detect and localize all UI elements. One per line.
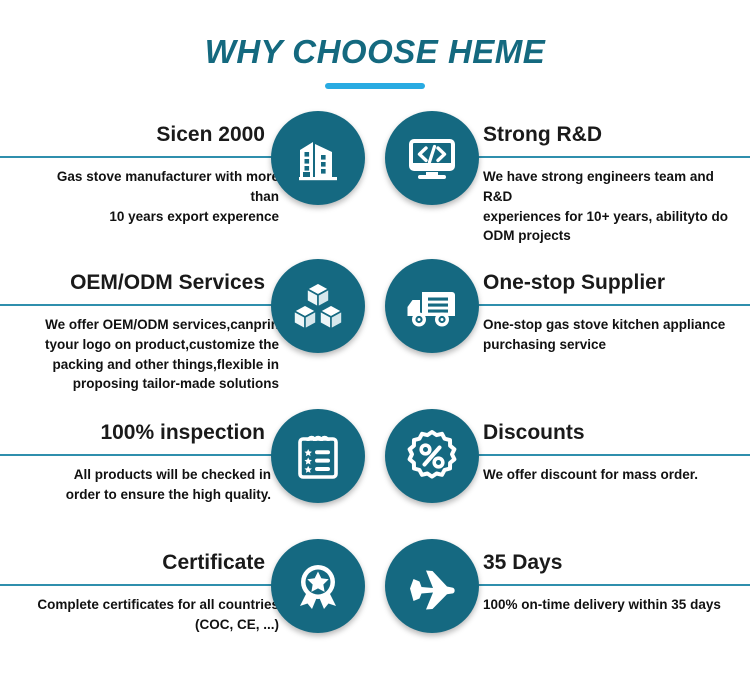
feature-icon-wrap (385, 259, 479, 353)
feature-title: One-stop Supplier (473, 271, 665, 295)
airplane-icon (385, 539, 479, 633)
feature-divider (473, 454, 750, 456)
feature-card-sicen-2000: Sicen 2000 Gas stove manufacturer with m… (0, 111, 375, 259)
discount-badge-icon (385, 409, 479, 503)
feature-icon-wrap (271, 539, 365, 633)
features-grid: Sicen 2000 Gas stove manufacturer with m… (0, 111, 750, 667)
feature-icon-wrap (385, 409, 479, 503)
feature-body: One-stop gas stove kitchen appliance pur… (473, 315, 725, 354)
feature-icon-wrap (271, 259, 365, 353)
title-underline-bar (325, 83, 425, 89)
page-title: WHY CHOOSE HEME (0, 34, 750, 70)
feature-divider (0, 304, 279, 306)
feature-body: All products will be checked in order to… (66, 465, 279, 504)
feature-divider (473, 304, 750, 306)
feature-text-column: Strong R&D We have strong engineers team… (473, 111, 750, 259)
feature-divider (473, 584, 750, 586)
feature-card-strong-rd: Strong R&D We have strong engineers team… (375, 111, 750, 259)
feature-icon-wrap (385, 539, 479, 633)
feature-divider (0, 454, 279, 456)
feature-text-column: 100% inspection All products will be che… (0, 409, 279, 539)
feature-divider (473, 156, 750, 158)
feature-text-column: Discounts We offer discount for mass ord… (473, 409, 750, 539)
award-medal-icon (271, 539, 365, 633)
feature-title: OEM/ODM Services (70, 271, 279, 295)
feature-card-discounts: Discounts We offer discount for mass ord… (375, 409, 750, 539)
feature-body: We offer OEM/ODM services,canprin tyour … (45, 315, 279, 393)
monitor-code-icon (385, 111, 479, 205)
feature-row: OEM/ODM Services We offer OEM/ODM servic… (0, 259, 750, 409)
feature-title: 100% inspection (100, 421, 279, 445)
feature-card-oem-odm-services: OEM/ODM Services We offer OEM/ODM servic… (0, 259, 375, 409)
feature-text-column: One-stop Supplier One-stop gas stove kit… (473, 259, 750, 409)
feature-text-column: 35 Days 100% on-time delivery within 35 … (473, 539, 750, 667)
truck-icon (385, 259, 479, 353)
cubes-icon (271, 259, 365, 353)
feature-body: 100% on-time delivery within 35 days (473, 595, 721, 615)
feature-title: Discounts (473, 421, 585, 445)
feature-text-column: Sicen 2000 Gas stove manufacturer with m… (0, 111, 279, 259)
feature-row: Sicen 2000 Gas stove manufacturer with m… (0, 111, 750, 259)
building-icon (271, 111, 365, 205)
header: WHY CHOOSE HEME (0, 0, 750, 89)
feature-body: We have strong engineers team and R&D ex… (473, 167, 740, 245)
feature-title: Certificate (162, 551, 279, 575)
feature-icon-wrap (271, 111, 365, 205)
feature-row: Certificate Complete certificates for al… (0, 539, 750, 667)
feature-icon-wrap (385, 111, 479, 205)
feature-icon-wrap (271, 409, 365, 503)
feature-divider (0, 156, 279, 158)
feature-body: Complete certificates for all countries … (37, 595, 279, 634)
feature-text-column: Certificate Complete certificates for al… (0, 539, 279, 667)
feature-title: Sicen 2000 (156, 123, 279, 147)
feature-card-one-stop-supplier: One-stop Supplier One-stop gas stove kit… (375, 259, 750, 409)
feature-title: 35 Days (473, 551, 562, 575)
feature-card-100-percent-inspection: 100% inspection All products will be che… (0, 409, 375, 539)
clipboard-checklist-icon (271, 409, 365, 503)
feature-card-35-days: 35 Days 100% on-time delivery within 35 … (375, 539, 750, 667)
feature-card-certificate: Certificate Complete certificates for al… (0, 539, 375, 667)
feature-body: Gas stove manufacturer with more than 10… (33, 167, 279, 226)
feature-row: 100% inspection All products will be che… (0, 409, 750, 539)
feature-divider (0, 584, 279, 586)
feature-body: We offer discount for mass order. (473, 465, 698, 485)
feature-title: Strong R&D (473, 123, 602, 147)
feature-text-column: OEM/ODM Services We offer OEM/ODM servic… (0, 259, 279, 409)
